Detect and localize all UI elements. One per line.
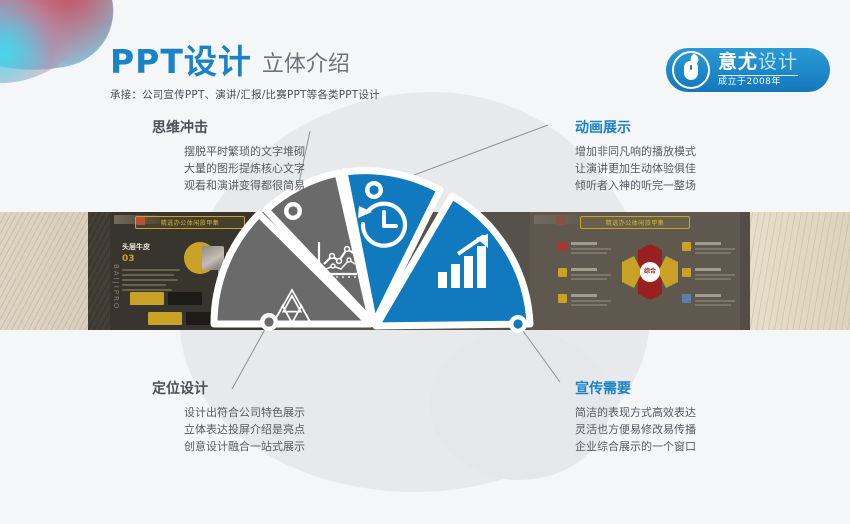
slide-canvas: 精选办公体闲旅甲集 头层牛皮 03 BAIJIPRO 精选办公体闲旅甲集 xyxy=(0,0,850,524)
callout-line: 倾听者入神的听完一整场 xyxy=(575,177,825,194)
callout-body: 增加非同凡响的播放模式 让演讲更加生动体验俱佳 倾听者入神的听完一整场 xyxy=(575,143,825,194)
connector-line-bottom-right xyxy=(518,324,560,382)
callout-line: 简洁的表现方式高效表达 xyxy=(575,404,825,421)
callout-xuanchuan-xuyao: 宣传需要 简洁的表现方式高效表达 灵活也方便易修改易传播 企业综合展示的一个窗口 xyxy=(575,381,825,455)
callout-line: 企业综合展示的一个窗口 xyxy=(575,438,825,455)
callout-line: 增加非同凡响的播放模式 xyxy=(575,143,825,160)
callout-line: 立体表达投屏介绍是亮点 xyxy=(55,421,305,438)
callout-line: 设计出符合公司特色展示 xyxy=(55,404,305,421)
callout-line: 大量的图形提炼核心文字 xyxy=(55,160,305,177)
connector-line-bottom-left xyxy=(232,322,269,389)
callout-title: 动画展示 xyxy=(575,120,825,137)
callout-body: 摆脱平时繁琐的文字堆砌 大量的图形提炼核心文字 观看和演讲变得都很简易 xyxy=(55,143,305,194)
callout-dingwei-sheji: 定位设计 设计出符合公司特色展示 立体表达投屏介绍是亮点 创意设计融合一站式展示 xyxy=(55,381,305,455)
callout-line: 观看和演讲变得都很简易 xyxy=(55,177,305,194)
callout-title: 思维冲击 xyxy=(55,120,305,137)
callout-title: 定位设计 xyxy=(55,381,305,398)
callout-siwei-chongji: 思维冲击 摆脱平时繁琐的文字堆砌 大量的图形提炼核心文字 观看和演讲变得都很简易 xyxy=(55,120,305,194)
callout-line: 灵活也方便易修改易传播 xyxy=(575,421,825,438)
callout-body: 简洁的表现方式高效表达 灵活也方便易修改易传播 企业综合展示的一个窗口 xyxy=(575,404,825,455)
callout-donghua-zhanshi: 动画展示 增加非同凡响的播放模式 让演讲更加生动体验俱佳 倾听者入神的听完一整场 xyxy=(575,120,825,194)
callout-title: 宣传需要 xyxy=(575,381,825,398)
callout-line: 摆脱平时繁琐的文字堆砌 xyxy=(55,143,305,160)
callout-body: 设计出符合公司特色展示 立体表达投屏介绍是亮点 创意设计融合一站式展示 xyxy=(55,404,305,455)
callout-line: 创意设计融合一站式展示 xyxy=(55,438,305,455)
callout-line: 让演讲更加生动体验俱佳 xyxy=(575,160,825,177)
